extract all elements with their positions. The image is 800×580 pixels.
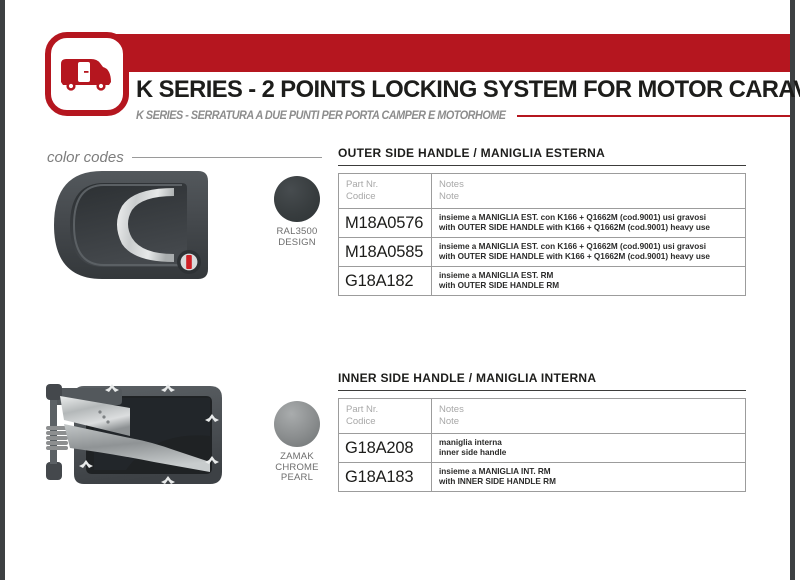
subtitle-red-rule (517, 115, 790, 117)
inner-side-handle-table-block: INNER SIDE HANDLE / MANIGLIA INTERNA Par… (338, 371, 746, 492)
header-code-line-2: Codice (346, 416, 424, 428)
table-header-row: Part Nr. Codice Notes Note (339, 399, 746, 434)
color-codes-label: color codes (47, 149, 124, 166)
outer-side-handle-image (46, 166, 226, 284)
table-title: OUTER SIDE HANDLE / MANIGLIA ESTERNA (338, 146, 746, 166)
header-cell-code: Part Nr. Codice (339, 399, 432, 434)
page-title: K SERIES - 2 POINTS LOCKING SYSTEM FOR M… (136, 76, 800, 104)
swatch-label-line-2: DESIGN (252, 238, 342, 249)
page-subtitle: K SERIES - SERRATURA A DUE PUNTI PER POR… (136, 110, 506, 122)
header-notes-line-1: Notes (439, 404, 738, 416)
note-english: with OUTER SIDE HANDLE with K166 + Q1662… (439, 252, 738, 262)
camper-van-icon (45, 32, 129, 116)
swatch-label-line-1: ZAMAK (252, 452, 342, 463)
part-code: G18A182 (339, 267, 432, 296)
viewport-edge-left (0, 0, 5, 580)
header-cell-notes: Notes Note (432, 399, 746, 434)
swatch-label-line-3: PEARL (252, 473, 342, 484)
header-code-line-1: Part Nr. (346, 404, 424, 416)
header-notes-line-2: Note (439, 191, 738, 203)
header-code-line-2: Codice (346, 191, 424, 203)
catalog-page: K SERIES - 2 POINTS LOCKING SYSTEM FOR M… (0, 0, 800, 580)
header-cell-code: Part Nr. Codice (339, 174, 432, 209)
part-code: M18A0585 (339, 238, 432, 267)
color-codes-heading-row: color codes (47, 148, 322, 166)
part-code: M18A0576 (339, 209, 432, 238)
part-notes: insieme a MANIGLIA EST. con K166 + Q1662… (432, 209, 746, 238)
page-subtitle-row: K SERIES - SERRATURA A DUE PUNTI PER POR… (136, 108, 790, 124)
note-italian: insieme a MANIGLIA EST. con K166 + Q1662… (439, 213, 738, 223)
header-notes-line-1: Notes (439, 179, 738, 191)
header-notes-line-2: Note (439, 416, 738, 428)
color-swatch-ral3500: RAL3500 DESIGN (252, 176, 342, 248)
table-row[interactable]: M18A0585 insieme a MANIGLIA EST. con K16… (339, 238, 746, 267)
inner-side-handle-image (34, 376, 230, 494)
note-italian: insieme a MANIGLIA EST. con K166 + Q1662… (439, 242, 738, 252)
part-notes: insieme a MANIGLIA EST. RM with OUTER SI… (432, 267, 746, 296)
header-code-line-1: Part Nr. (346, 179, 424, 191)
part-notes: maniglia interna inner side handle (432, 434, 746, 463)
table-row[interactable]: G18A208 maniglia interna inner side hand… (339, 434, 746, 463)
note-english: with OUTER SIDE HANDLE with K166 + Q1662… (439, 223, 738, 233)
note-english: inner side handle (439, 448, 738, 458)
parts-table: Part Nr. Codice Notes Note M18A0576 insi… (338, 173, 746, 296)
header-red-banner (110, 34, 790, 72)
table-title: INNER SIDE HANDLE / MANIGLIA INTERNA (338, 371, 746, 391)
part-notes: insieme a MANIGLIA INT. RM with INNER SI… (432, 463, 746, 492)
note-english: with OUTER SIDE HANDLE RM (439, 281, 738, 291)
header-cell-notes: Notes Note (432, 174, 746, 209)
part-code: G18A208 (339, 434, 432, 463)
parts-table: Part Nr. Codice Notes Note G18A208 manig… (338, 398, 746, 492)
swatch-dot-ral3500 (274, 176, 320, 222)
note-english: with INNER SIDE HANDLE RM (439, 477, 738, 487)
table-row[interactable]: M18A0576 insieme a MANIGLIA EST. con K16… (339, 209, 746, 238)
table-row[interactable]: G18A183 insieme a MANIGLIA INT. RM with … (339, 463, 746, 492)
swatch-label-line-1: RAL3500 (252, 227, 342, 238)
note-italian: insieme a MANIGLIA INT. RM (439, 467, 738, 477)
outer-side-handle-table-block: OUTER SIDE HANDLE / MANIGLIA ESTERNA Par… (338, 146, 746, 296)
color-swatch-zamak-chrome: ZAMAK CHROME PEARL (252, 401, 342, 484)
swatch-dot-zamak-chrome (274, 401, 320, 447)
note-italian: maniglia interna (439, 438, 738, 448)
table-header-row: Part Nr. Codice Notes Note (339, 174, 746, 209)
color-codes-rule (132, 157, 322, 158)
part-notes: insieme a MANIGLIA EST. con K166 + Q1662… (432, 238, 746, 267)
table-row[interactable]: G18A182 insieme a MANIGLIA EST. RM with … (339, 267, 746, 296)
note-italian: insieme a MANIGLIA EST. RM (439, 271, 738, 281)
part-code: G18A183 (339, 463, 432, 492)
